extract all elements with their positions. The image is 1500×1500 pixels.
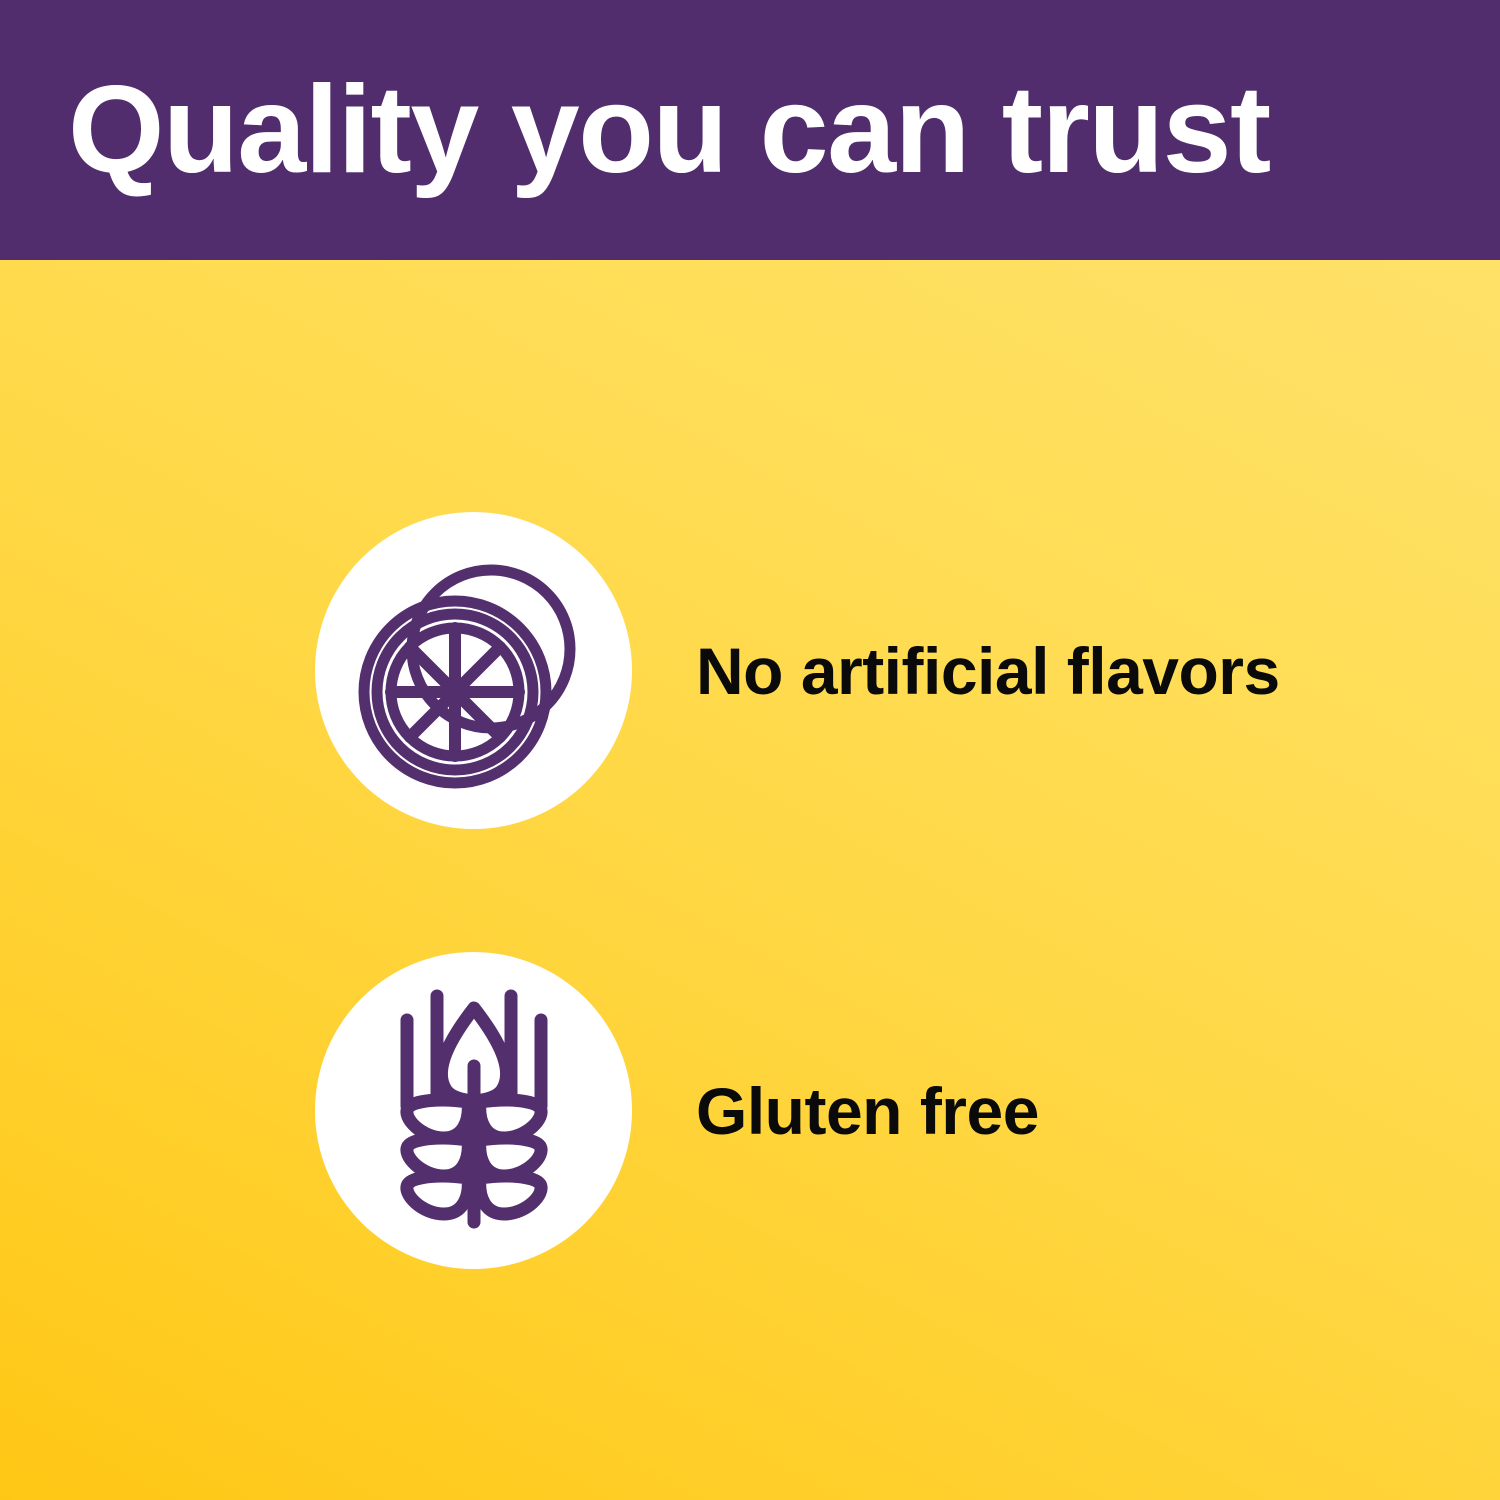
- wheat-stalk-icon: [364, 986, 584, 1236]
- icon-badge: [315, 952, 632, 1269]
- feature-item-no-artificial-flavors: No artificial flavors: [315, 512, 1280, 829]
- features-panel: No artificial flavors: [0, 260, 1500, 1500]
- citrus-slice-icon: [349, 546, 599, 796]
- page-title: Quality you can trust: [0, 68, 1270, 192]
- feature-label: Gluten free: [632, 1078, 1039, 1144]
- header-band: Quality you can trust: [0, 0, 1500, 260]
- icon-badge: [315, 512, 632, 829]
- quality-badge-poster: Quality you can trust: [0, 0, 1500, 1500]
- feature-item-gluten-free: Gluten free: [315, 952, 1039, 1269]
- feature-label: No artificial flavors: [632, 638, 1280, 704]
